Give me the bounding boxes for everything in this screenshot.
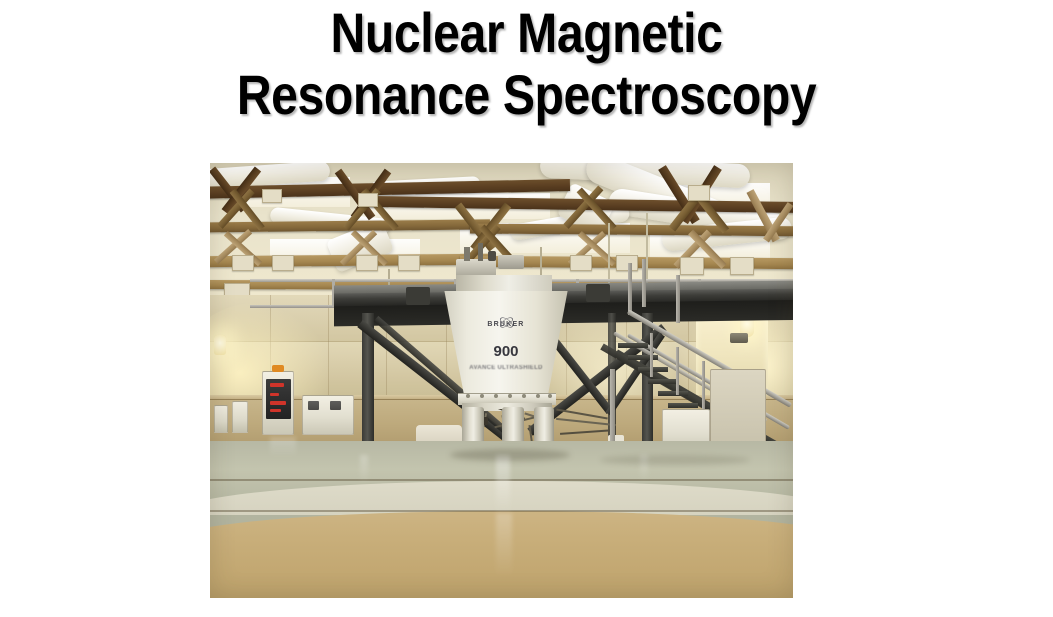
stair-baluster — [702, 361, 705, 415]
control-led — [270, 393, 279, 396]
nmr-facility-photo: BRUKER 900 AVANCE ULTRASHIELD — [210, 163, 793, 598]
stair-post — [628, 263, 632, 315]
stair-tread — [648, 379, 678, 384]
truss-gusset — [680, 257, 704, 275]
floor-reflection — [496, 513, 512, 577]
truss-gusset — [232, 255, 254, 271]
truss-gusset — [262, 189, 282, 203]
warning-beacon — [272, 365, 284, 372]
deck-bolt-plate — [586, 284, 610, 302]
stair-shadow — [600, 455, 750, 465]
waste-bin — [232, 401, 248, 433]
truss-gusset — [616, 255, 638, 271]
wall-sconce-bracket — [730, 333, 748, 343]
control-led-display — [270, 401, 286, 405]
truss-gusset — [272, 255, 294, 271]
deck-bolt-plate — [406, 287, 430, 305]
control-led-display — [270, 383, 284, 387]
stair-baluster — [676, 347, 679, 395]
truss-gusset — [398, 255, 420, 271]
stair-tread — [628, 355, 658, 360]
truss-gusset — [358, 193, 378, 207]
cryo-pipe — [478, 243, 483, 261]
page-title: Nuclear Magnetic Resonance Spectroscopy — [0, 2, 1053, 126]
stair-tread — [618, 343, 648, 348]
stair-tread — [638, 367, 668, 372]
cryo-module — [498, 255, 524, 269]
truss-gusset — [224, 283, 250, 295]
truss-gusset — [356, 255, 378, 271]
floor-reflection — [270, 437, 296, 457]
title-line-2: Resonance Spectroscopy — [74, 64, 980, 126]
magnet-model-label: 900 — [436, 343, 576, 360]
cryo-valve — [488, 251, 496, 261]
chiller-vent — [330, 401, 341, 410]
stair-post — [642, 259, 646, 307]
stair-post — [676, 275, 680, 323]
truss-gusset — [730, 257, 754, 275]
truss-gusset — [570, 255, 592, 271]
stair-baluster — [650, 333, 653, 377]
stair-tread — [658, 391, 688, 396]
chiller-vent — [308, 401, 319, 410]
magnet-top-flange — [456, 275, 552, 293]
title-line-1: Nuclear Magnetic — [74, 2, 980, 64]
slide-canvas: Nuclear Magnetic Resonance Spectroscopy — [0, 0, 1053, 617]
floor-reflection — [496, 455, 510, 513]
stair-tread — [668, 403, 698, 408]
truss-gusset — [688, 185, 710, 201]
magnet-shadow — [450, 449, 570, 461]
floor-reflection — [360, 455, 368, 483]
waste-bin — [214, 405, 228, 433]
control-led — [270, 409, 281, 412]
cryo-pipe — [464, 247, 470, 261]
wall-sconce-light-left — [214, 335, 226, 355]
